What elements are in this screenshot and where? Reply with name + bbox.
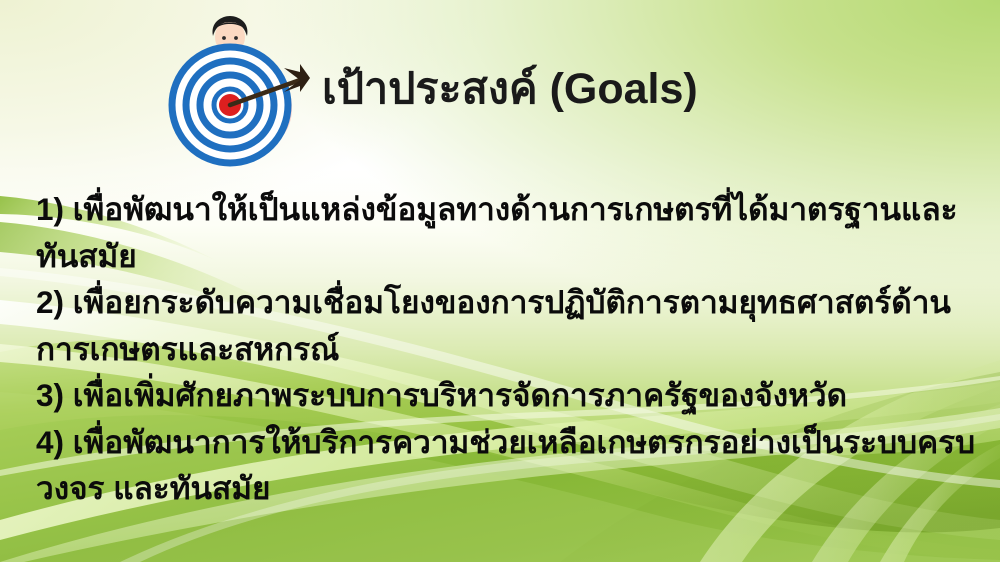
page-title: เป้าประสงค์ (Goals) — [322, 64, 698, 115]
goal-item-2: 2) เพื่อยกระดับความเชื่อมโยงของการปฏิบัต… — [36, 279, 992, 372]
slide-canvas: เป้าประสงค์ (Goals) 1) เพื่อพัฒนาให้เป็น… — [0, 0, 1000, 562]
goal-item-3: 3) เพื่อเพิ่มศักยภาพระบบการบริหารจัดการภ… — [36, 372, 992, 419]
goal-item-1: 1) เพื่อพัฒนาให้เป็นแหล่งข้อมูลทางด้านกา… — [36, 186, 992, 279]
goal-item-4: 4) เพื่อพัฒนาการให้บริการความช่วยเหลือเก… — [36, 419, 992, 512]
archery-target-icon — [150, 12, 310, 172]
goals-list: 1) เพื่อพัฒนาให้เป็นแหล่งข้อมูลทางด้านกา… — [36, 186, 992, 512]
